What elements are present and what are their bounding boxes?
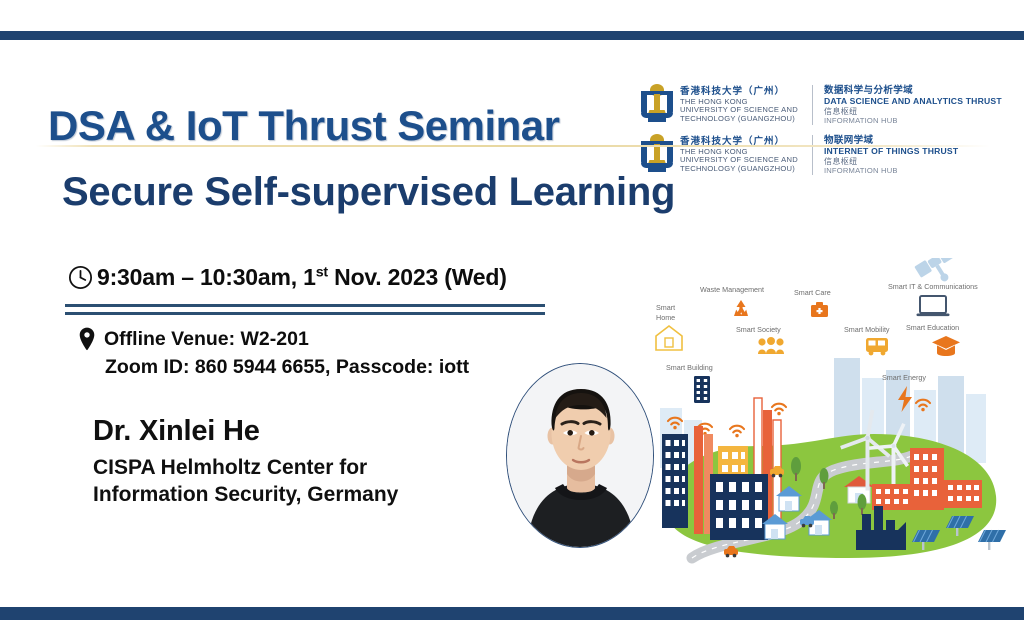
institution-logo-cluster: 香港科技大学（广州） THE HONG KONG UNIVERSITY OF S… [640, 80, 990, 180]
venue-offline-row: Offline Venue: W2-201 [78, 327, 548, 351]
speaker-portrait [506, 363, 654, 548]
header-gold-divider [36, 145, 990, 147]
label-smart-society: Smart Society [736, 325, 781, 334]
bottom-accent-bar [0, 607, 1024, 620]
solar-panel [978, 530, 1006, 550]
seminar-poster: DSA & IoT Thrust Seminar 香港科技大学（广州） THE … [0, 0, 1024, 640]
hub-name-en: INFORMATION HUB [824, 166, 958, 175]
poster-header: DSA & IoT Thrust Seminar 香港科技大学（广州） THE … [0, 40, 1024, 145]
label-smart-building: Smart Building [666, 363, 713, 372]
smart-building-icon [694, 376, 710, 403]
university-name-cn: 香港科技大学（广州） [680, 87, 798, 98]
thrust-name-cn: 数据科学与分析学域 [824, 85, 1002, 96]
speaker-affiliation-line-2: Information Security, Germany [93, 482, 493, 509]
wifi-icon [772, 404, 786, 416]
bus-icon [866, 338, 888, 355]
seminar-series-title: DSA & IoT Thrust Seminar [48, 102, 560, 150]
talk-time-text: 9:30am – 10:30am, 1st Nov. 2023 (Wed) [97, 264, 507, 291]
graduation-cap-icon [932, 336, 960, 356]
logo-row-dsa: 香港科技大学（广州） THE HONG KONG UNIVERSITY OF S… [640, 80, 990, 130]
clock-icon [68, 265, 93, 290]
logo-divider [812, 135, 813, 175]
location-pin-icon [78, 327, 96, 351]
venue-offline-text: Offline Venue: W2-201 [104, 328, 309, 351]
people-icon [758, 337, 784, 354]
thrust-name-block-dsa: 数据科学与分析学域 DATA SCIENCE AND ANALYTICS THR… [824, 85, 1002, 125]
label-smart-it-communications: Smart IT & Communications [888, 282, 978, 291]
smart-home-icon [656, 326, 682, 350]
thrust-name-en: INTERNET OF THINGS THRUST [824, 146, 958, 156]
hub-name-cn: 信息枢纽 [824, 157, 958, 167]
logo-row-iot: 香港科技大学（广州） THE HONG KONG UNIVERSITY OF S… [640, 130, 990, 180]
medical-kit-icon [811, 302, 828, 317]
university-name-en-3: TECHNOLOGY (GUANGZHOU) [680, 115, 798, 124]
top-accent-bar [0, 31, 1024, 40]
university-name-block: 香港科技大学（广州） THE HONG KONG UNIVERSITY OF S… [680, 137, 798, 173]
venue-zoom-text: Zoom ID: 860 5944 6655, Passcode: iott [105, 356, 548, 379]
talk-time-row: 9:30am – 10:30am, 1st Nov. 2023 (Wed) [68, 259, 507, 295]
recycle-icon [734, 300, 748, 316]
talk-time-prefix: 9:30am – 10:30am, 1 [97, 264, 316, 290]
speaker-block: Dr. Xinlei He CISPA Helmholtz Center for… [93, 415, 493, 509]
label-smart-mobility: Smart Mobility [844, 325, 890, 334]
label-smart-home-2: Home [656, 313, 675, 322]
talk-title: Secure Self-supervised Learning [62, 170, 675, 215]
logo-divider [812, 85, 813, 125]
speaker-name: Dr. Xinlei He [93, 415, 493, 448]
speaker-affiliation-line-1: CISPA Helmholtz Center for [93, 455, 493, 482]
label-smart-care: Smart Care [794, 288, 831, 297]
laptop-icon [917, 296, 950, 316]
hkust-torch-logo-icon [640, 83, 674, 127]
thrust-name-block-iot: 物联网学域 INTERNET OF THINGS THRUST 信息枢纽 INF… [824, 135, 958, 175]
thrust-name-en: DATA SCIENCE AND ANALYTICS THRUST [824, 96, 1002, 106]
university-name-en-3: TECHNOLOGY (GUANGZHOU) [680, 165, 798, 174]
speaker-affiliation: CISPA Helmholtz Center for Information S… [93, 455, 493, 509]
label-smart-education: Smart Education [906, 323, 959, 332]
hub-name-en: INFORMATION HUB [824, 116, 1002, 125]
smart-city-iot-illustration: .lbl { font-family: "Liberation Sans", s… [648, 258, 1018, 568]
university-name-block: 香港科技大学（广州） THE HONG KONG UNIVERSITY OF S… [680, 87, 798, 123]
venue-block: Offline Venue: W2-201 Zoom ID: 860 5944 … [78, 327, 548, 379]
hub-name-cn: 信息枢纽 [824, 107, 1002, 117]
label-smart-home-1: Smart [656, 303, 675, 312]
label-smart-energy: Smart Energy [882, 373, 926, 382]
label-waste-management: Waste Management [700, 285, 764, 294]
talk-time-suffix: Nov. 2023 (Wed) [328, 264, 507, 290]
talk-date-ordinal: st [316, 264, 328, 280]
wifi-icon [730, 426, 744, 438]
time-double-divider [65, 304, 545, 316]
